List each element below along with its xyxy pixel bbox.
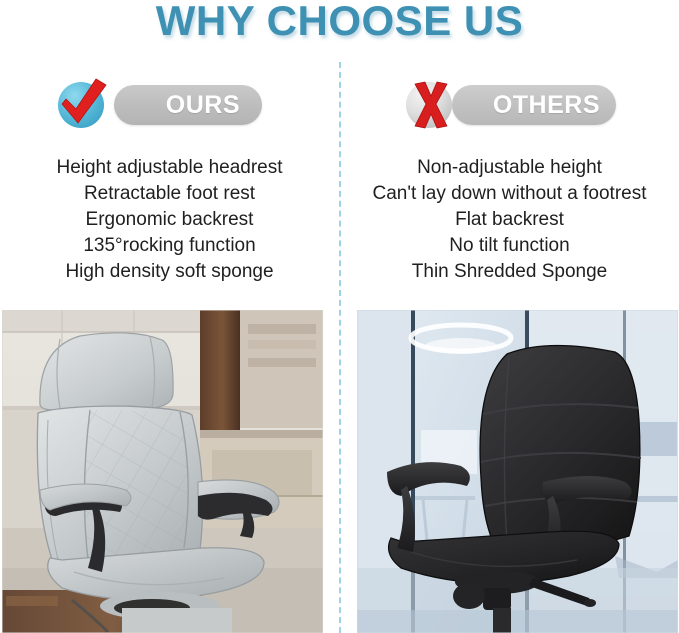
ours-label: OURS <box>166 91 240 120</box>
list-item: High density soft sponge <box>0 259 339 285</box>
gray-executive-chair-photo <box>2 310 323 633</box>
others-feature-list: Non-adjustable height Can't lay down wit… <box>340 155 679 285</box>
list-item: Height adjustable headrest <box>0 155 339 181</box>
list-item: No tilt function <box>340 233 679 259</box>
list-item: 135°rocking function <box>0 233 339 259</box>
list-item: Flat backrest <box>340 207 679 233</box>
check-mark-icon <box>54 76 112 134</box>
list-item: Can't lay down without a footrest <box>340 181 679 207</box>
ours-column: OURS Height adjustable headrest Retracta… <box>0 0 339 633</box>
cross-x-icon <box>402 76 460 134</box>
others-pill: OTHERS <box>452 85 616 125</box>
others-label: OTHERS <box>493 91 600 120</box>
list-item: Ergonomic backrest <box>0 207 339 233</box>
list-item: Retractable foot rest <box>0 181 339 207</box>
list-item: Non-adjustable height <box>340 155 679 181</box>
ours-pill: OURS <box>114 85 262 125</box>
ours-feature-list: Height adjustable headrest Retractable f… <box>0 155 339 285</box>
list-item: Thin Shredded Sponge <box>340 259 679 285</box>
black-office-chair-photo <box>357 310 678 633</box>
